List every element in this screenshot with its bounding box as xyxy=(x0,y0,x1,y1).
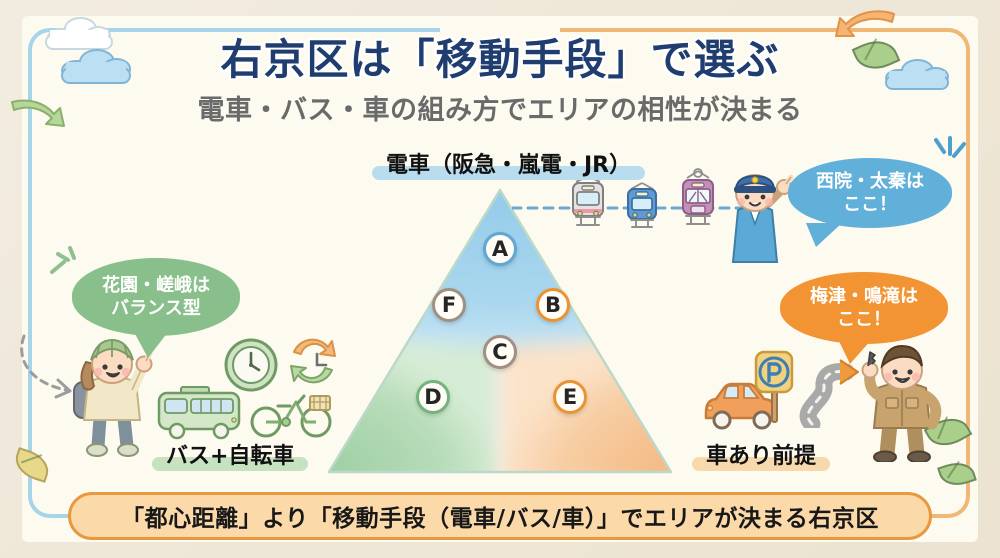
sparkle-icon xyxy=(48,246,82,280)
cycle-arrows-icon xyxy=(284,332,342,390)
callout-orange-line1: 梅津・鳴滝は xyxy=(810,285,918,308)
axis-label-car: 車あり前提 xyxy=(692,436,830,472)
summary-banner: 「都心距離」より「移動手段（電車/バス/車）」でエリアが決まる右京区 xyxy=(68,492,932,540)
marker-e-label: E xyxy=(563,385,577,409)
summary-banner-text: 「都心距離」より「移動手段（電車/バス/車）」でエリアが決まる右京区 xyxy=(121,499,879,533)
callout-top-right-line1: 西院・太秦は xyxy=(816,170,924,193)
marker-c-label: C xyxy=(492,340,507,364)
axis-label-train: 電車（阪急・嵐電・JR） xyxy=(372,145,645,181)
callout-orange-tail xyxy=(838,339,872,364)
axis-label-car-text: 車あり前提 xyxy=(706,444,816,469)
marker-d[interactable]: D xyxy=(416,380,450,414)
page-title: 右京区は「移動手段」で選ぶ xyxy=(0,26,1000,87)
callout-left-line1: 花園・嵯峨は xyxy=(102,274,210,297)
page-subtitle: 電車・バス・車の組み方でエリアの相性が決まる xyxy=(0,88,1000,127)
axis-label-bus-text: バス+自転車 xyxy=(166,444,294,469)
callout-top-right: 西院・太秦は ここ！ xyxy=(788,158,952,228)
train-blue-icon xyxy=(622,180,662,230)
infographic-canvas: 右京区は「移動手段」で選ぶ 電車・バス・車の組み方でエリアの相性が決まる 電車（… xyxy=(0,0,1000,558)
marker-d-label: D xyxy=(424,385,441,409)
marker-f[interactable]: F xyxy=(432,288,466,322)
callout-orange: 梅津・鳴滝は ここ！ xyxy=(780,272,948,344)
marker-a-label: A xyxy=(492,237,508,261)
callout-top-right-line2: ここ！ xyxy=(843,193,897,216)
callout-orange-line2: ここ！ xyxy=(837,308,891,331)
station-master-icon xyxy=(712,160,798,270)
callout-left: 花園・嵯峨は バランス型 xyxy=(72,258,240,336)
marker-b[interactable]: B xyxy=(536,288,570,322)
marker-e[interactable]: E xyxy=(553,380,587,414)
callout-left-tail xyxy=(134,332,168,358)
axis-label-train-text: 電車（阪急・嵐電・JR） xyxy=(386,153,631,178)
axis-label-bus: バス+自転車 xyxy=(152,436,308,472)
bicycle-icon xyxy=(250,384,334,440)
callout-top-right-tail xyxy=(806,223,842,247)
marker-a[interactable]: A xyxy=(483,232,517,266)
marker-b-label: B xyxy=(545,293,561,317)
callout-left-line2: バランス型 xyxy=(111,297,201,320)
sparkle-icon xyxy=(930,136,970,180)
marker-f-label: F xyxy=(442,293,456,317)
marker-c[interactable]: C xyxy=(483,335,517,369)
